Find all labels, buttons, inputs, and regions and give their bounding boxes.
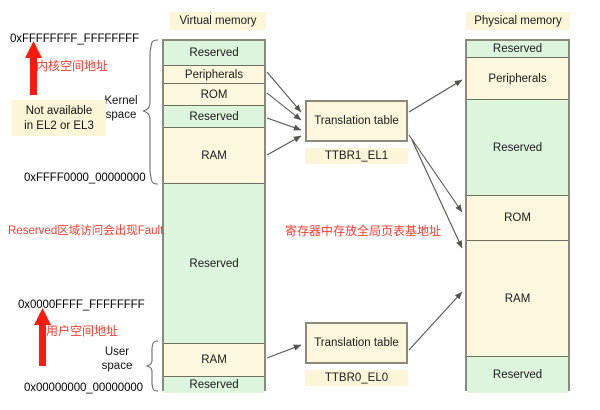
arrow-rom-to-ttbr1: [267, 93, 301, 120]
arrow-ttbr1-to-peripherals: [409, 80, 462, 112]
physical-memory-title: Physical memory: [466, 12, 570, 30]
arrow-ram-kernel-to-ttbr1: [267, 136, 301, 155]
user-space-bracket: [147, 341, 158, 391]
pm-block-reserved-top: Reserved: [467, 41, 568, 58]
vm-block-reserved-middle: Reserved: [164, 184, 264, 344]
not-available-line2: in EL2 or EL3: [18, 119, 100, 134]
pm-block-reserved-middle: Reserved: [467, 100, 568, 196]
translation-table-ttbr1[interactable]: Translation table: [305, 100, 408, 142]
user-space-label-line1: User: [92, 345, 142, 359]
user-address-annotation: 用户空间地址: [46, 322, 118, 339]
pm-block-ram: RAM: [467, 241, 568, 357]
virtual-memory-title: Virtual memory: [170, 12, 266, 30]
address-user-bottom: 0x00000000_00000000: [24, 382, 143, 394]
vm-block-reserved-bottom: Reserved: [164, 377, 264, 393]
arrow-ram-user-to-ttbr0: [267, 345, 301, 358]
arrow-ttbr1-to-rom: [409, 135, 462, 212]
vm-block-rom: ROM: [164, 84, 264, 106]
address-kernel-top: 0xFFFFFFFF_FFFFFFFF: [10, 33, 139, 45]
user-space-label-line2: space: [92, 359, 142, 373]
reserved-fault-annotation: Reserved区域访问会出现Fault: [8, 222, 163, 238]
vm-block-ram-kernel: RAM: [164, 128, 264, 184]
diagram-canvas: Virtual memory Physical memory Reserved …: [0, 0, 600, 410]
address-kernel-bottom: 0xFFFF0000_00000000: [24, 172, 146, 184]
address-user-top: 0x0000FFFF_FFFFFFFF: [18, 299, 145, 311]
not-available-note: Not available in EL2 or EL3: [12, 100, 106, 136]
ttbr1-register-label: TTBR1_EL1: [305, 148, 408, 164]
arrow-reserved-to-ttbr1: [267, 118, 301, 130]
vm-block-ram-user: RAM: [164, 344, 264, 377]
physical-memory-column: Reserved Peripherals Reserved ROM RAM Re…: [465, 39, 570, 391]
virtual-memory-column: Reserved Peripherals ROM Reserved RAM Re…: [162, 39, 266, 391]
register-base-annotation: 寄存器中存放全局页表基地址: [285, 222, 441, 239]
vm-block-reserved-kernel: Reserved: [164, 106, 264, 128]
pm-block-peripherals: Peripherals: [467, 58, 568, 100]
arrow-peripherals-to-ttbr1: [267, 72, 301, 112]
arrow-ttbr0-to-ram: [409, 292, 462, 350]
vm-block-peripherals: Peripherals: [164, 66, 264, 84]
not-available-line1: Not available: [18, 104, 100, 119]
vm-block-reserved-top: Reserved: [164, 41, 264, 66]
translation-table-ttbr0[interactable]: Translation table: [305, 322, 408, 364]
ttbr0-register-label: TTBR0_EL0: [305, 370, 408, 386]
pm-block-reserved-bottom: Reserved: [467, 357, 568, 393]
kernel-address-annotation: 内核空间地址: [36, 57, 108, 74]
pm-block-rom: ROM: [467, 196, 568, 241]
